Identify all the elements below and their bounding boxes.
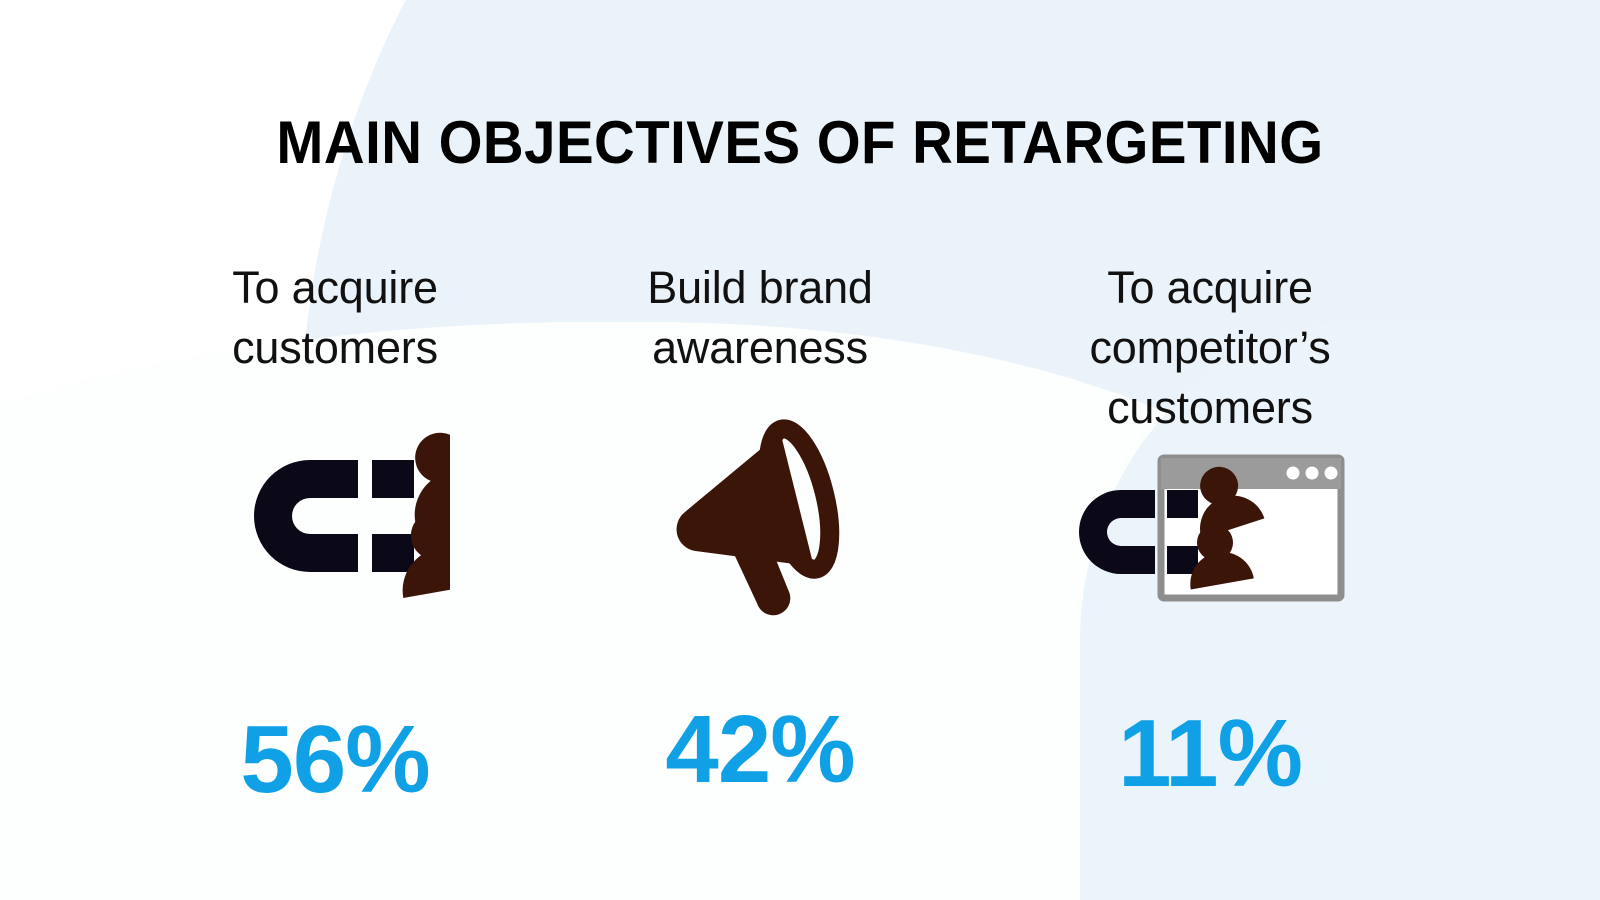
- stat-label-line: customers: [1025, 378, 1395, 438]
- infographic-canvas: MAIN OBJECTIVES OF RETARGETING To acquir…: [0, 0, 1600, 900]
- stat-label-line: To acquire: [1025, 258, 1395, 318]
- stat-column-acquire-customers: To acquire customers: [150, 258, 520, 808]
- stat-label: To acquire customers: [150, 258, 520, 378]
- magnet-body: [254, 460, 358, 572]
- magnet-pole-top: [1167, 490, 1198, 518]
- stat-column-brand-awareness: Build brand awareness: [575, 258, 945, 798]
- browser-dot: [1325, 467, 1338, 480]
- magnet-pole-top: [372, 460, 414, 498]
- magnet-pole-bottom: [1167, 546, 1198, 574]
- stat-percent: 42%: [575, 702, 945, 798]
- stat-percent: 56%: [150, 712, 520, 808]
- stat-icon-slot: [575, 406, 945, 636]
- stat-percent: 11%: [1025, 706, 1395, 802]
- page-title: MAIN OBJECTIVES OF RETARGETING: [48, 108, 1552, 177]
- stat-label: Build brand awareness: [575, 258, 945, 378]
- browser-dot: [1306, 467, 1319, 480]
- megaphone-cone: [659, 433, 814, 597]
- magnet-body: [1079, 490, 1155, 574]
- stat-icon-slot: [150, 416, 520, 646]
- stat-label-line: Build brand: [575, 258, 945, 318]
- megaphone-group: [659, 423, 851, 621]
- stat-icon-slot: [1025, 442, 1395, 672]
- stat-label-line: awareness: [575, 318, 945, 378]
- stat-label-line: customers: [150, 318, 520, 378]
- magnet-attracting-customers-icon: [220, 416, 450, 616]
- stat-label-line: To acquire: [150, 258, 520, 318]
- stat-column-competitor-customers: To acquire competitor’s customers: [1025, 258, 1395, 802]
- browser-dot: [1287, 467, 1300, 480]
- magnet-pole-bottom: [372, 534, 414, 572]
- megaphone-icon: [650, 406, 870, 621]
- stat-label: To acquire competitor’s customers: [1025, 258, 1395, 438]
- stat-label-line: competitor’s: [1025, 318, 1395, 378]
- browser-window-magnet-customers-icon: [1065, 442, 1355, 617]
- infographic-content: MAIN OBJECTIVES OF RETARGETING To acquir…: [0, 0, 1600, 900]
- statistics-columns: To acquire customers: [0, 258, 1600, 818]
